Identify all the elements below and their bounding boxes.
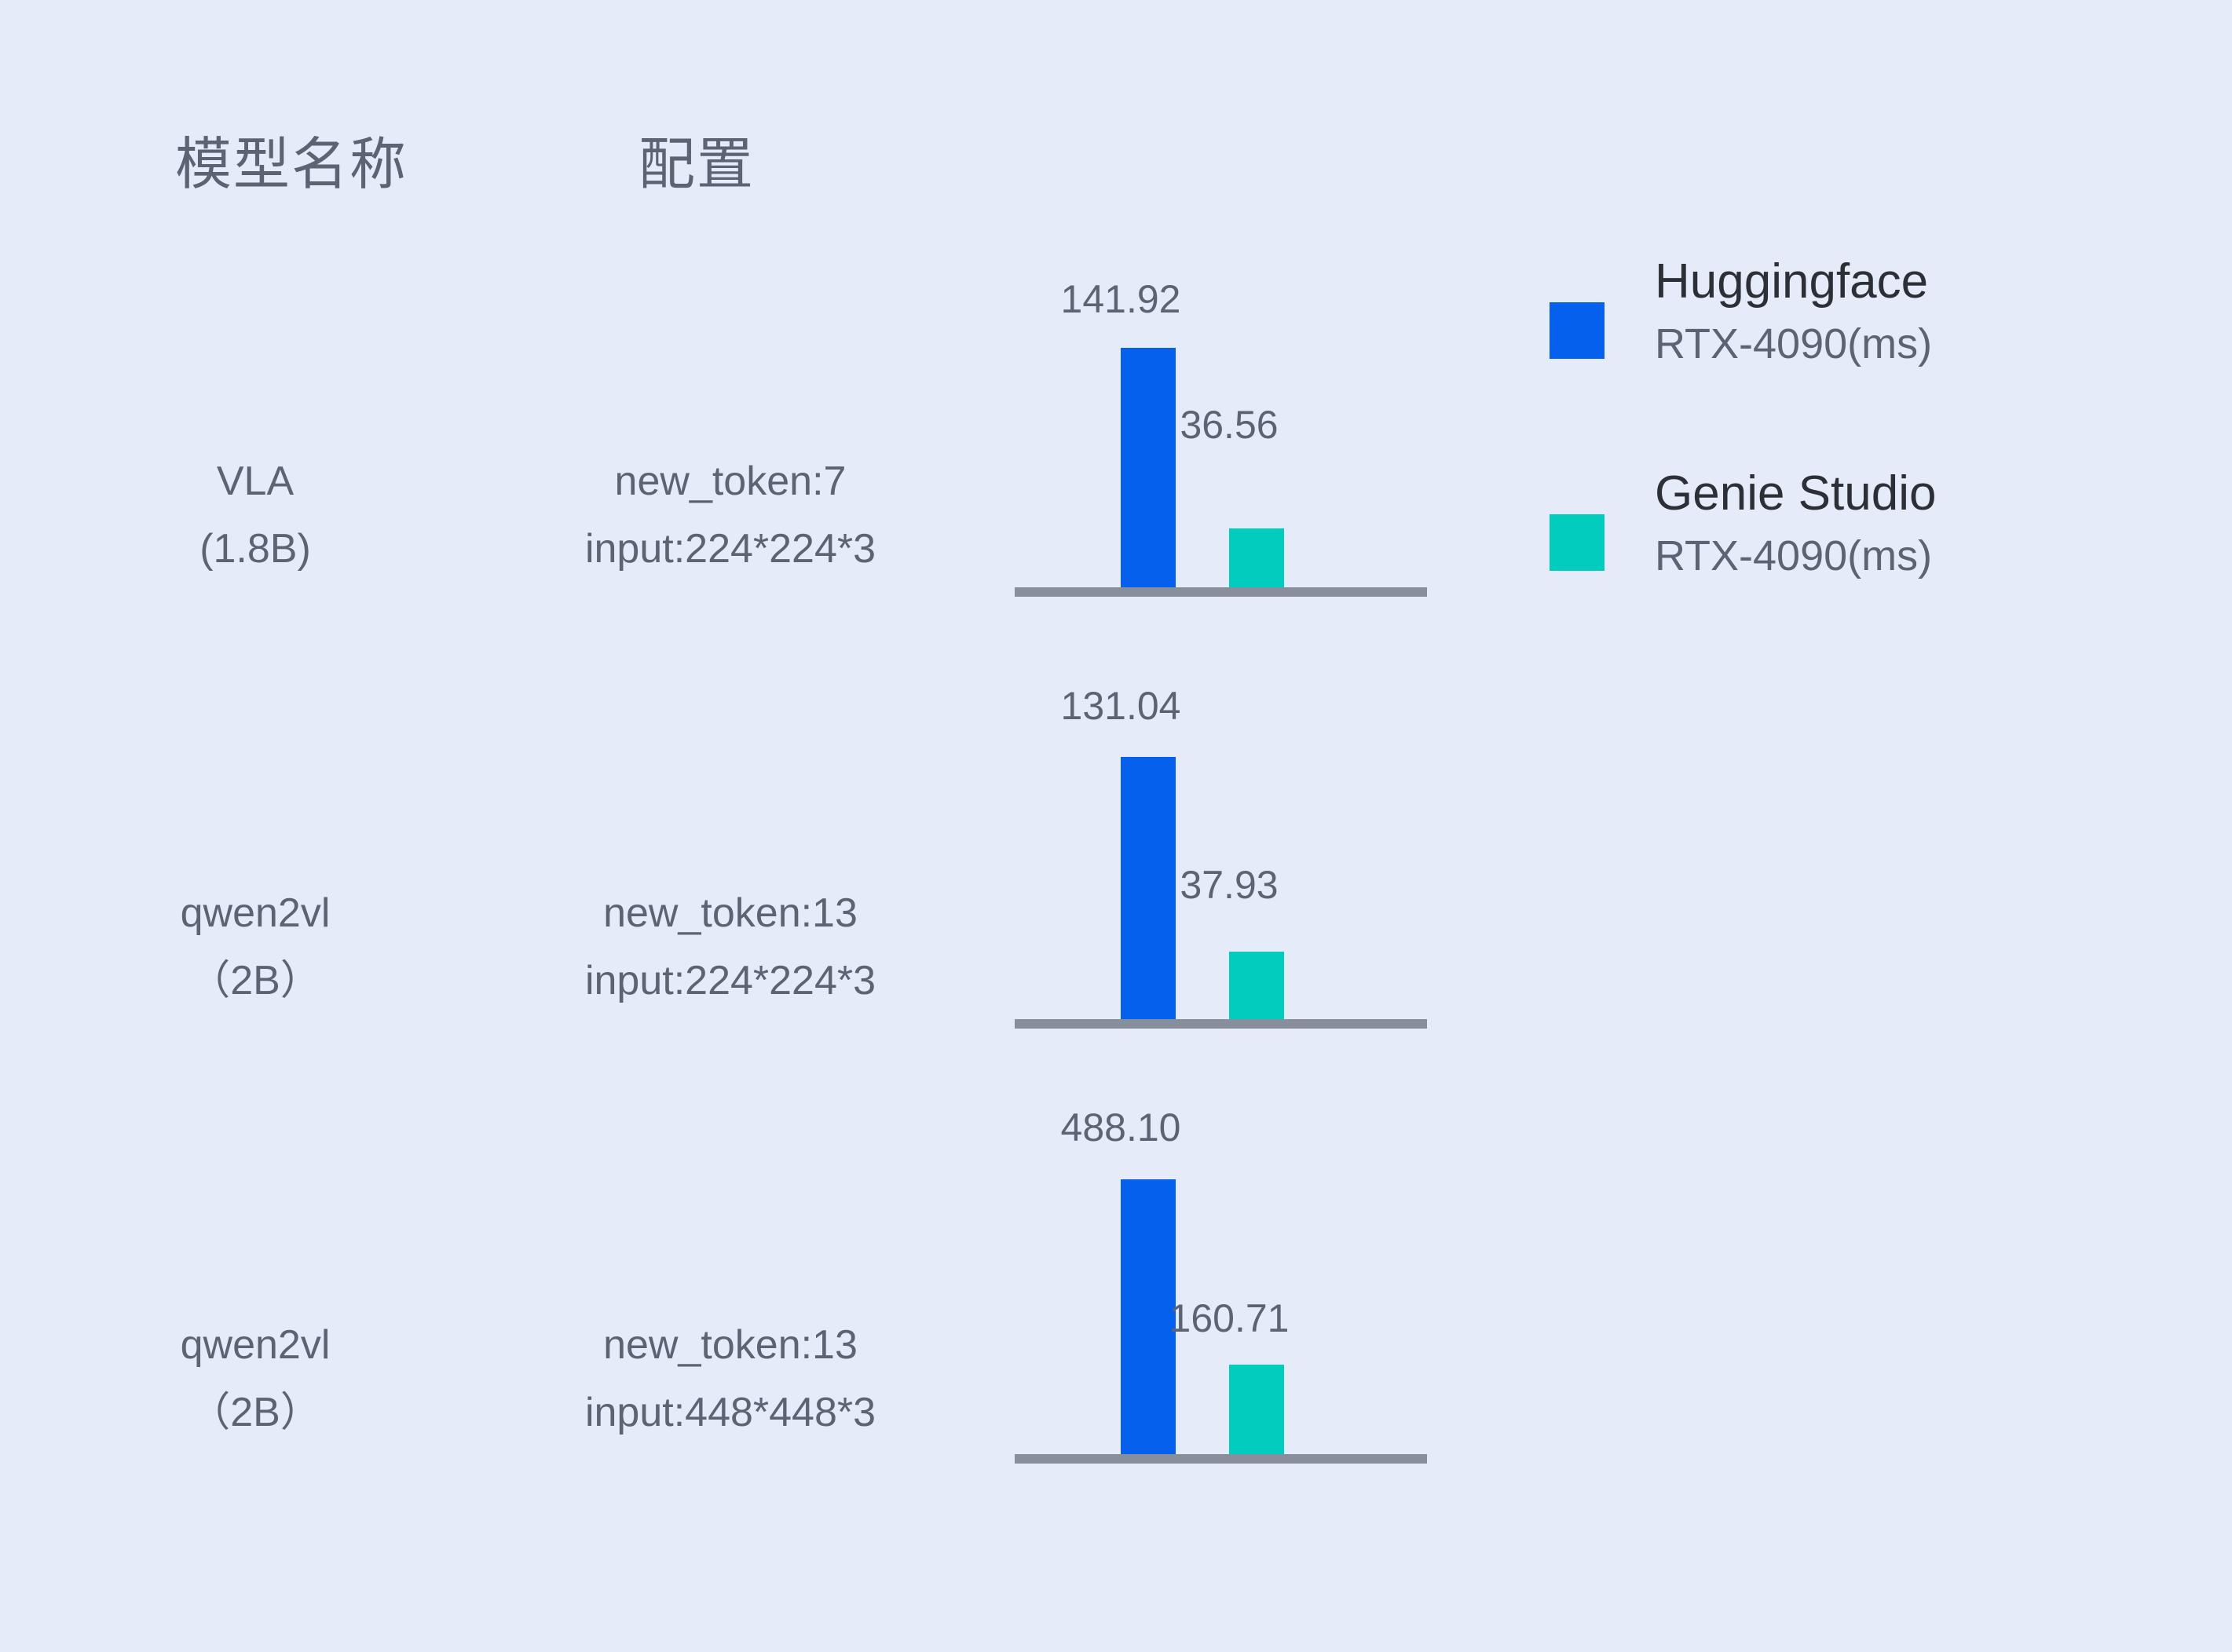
legend-item-genie-studio[interactable]: Genie Studio RTX-4090(ms) xyxy=(1543,463,2172,620)
axis-baseline xyxy=(1015,587,1427,597)
bar-chart-panel: 141.92 36.56 xyxy=(1015,259,1431,605)
axis-baseline xyxy=(1015,1019,1427,1029)
legend-text-block: Genie Studio RTX-4090(ms) xyxy=(1655,463,2157,587)
legend-text-block: Huggingface RTX-4090(ms) xyxy=(1655,251,2157,375)
bar-genie-studio xyxy=(1229,528,1284,587)
bar-genie-studio xyxy=(1229,1365,1284,1454)
legend-title: Huggingface xyxy=(1655,251,2157,312)
model-name-line: qwen2vl xyxy=(102,1311,408,1379)
legend-color-swatch-icon xyxy=(1550,514,1604,571)
cell-config: new_token:13 input:224*224*3 xyxy=(440,879,1021,1014)
model-size-line: （2B） xyxy=(102,947,408,1014)
benchmark-comparison-chart: 模型名称 配置 VLA (1.8B) new_token:7 input:224… xyxy=(0,0,2232,1652)
config-token-line: new_token:13 xyxy=(440,879,1021,947)
legend-item-huggingface[interactable]: Huggingface RTX-4090(ms) xyxy=(1543,251,2172,408)
bar-value-label-genie-studio: 36.56 xyxy=(1127,402,1331,448)
config-input-line: input:224*224*3 xyxy=(440,515,1021,583)
cell-model-name: qwen2vl （2B） xyxy=(102,879,408,1014)
config-token-line: new_token:13 xyxy=(440,1311,1021,1379)
config-input-line: input:448*448*3 xyxy=(440,1379,1021,1446)
cell-model-name: VLA (1.8B) xyxy=(102,448,408,583)
bar-value-label-genie-studio: 37.93 xyxy=(1127,862,1331,908)
legend-subtitle: RTX-4090(ms) xyxy=(1655,312,2157,375)
bar-chart-panel: 488.10 160.71 xyxy=(1015,1115,1431,1468)
bar-huggingface xyxy=(1121,348,1176,587)
config-token-line: new_token:7 xyxy=(440,448,1021,515)
legend-title: Genie Studio xyxy=(1655,463,2157,524)
bar-value-label-huggingface: 488.10 xyxy=(1019,1105,1223,1150)
chart-legend: Huggingface RTX-4090(ms) Genie Studio RT… xyxy=(1543,236,2172,597)
axis-baseline xyxy=(1015,1454,1427,1464)
bar-chart-panel: 131.04 37.93 xyxy=(1015,691,1431,1036)
model-name-line: VLA xyxy=(102,448,408,515)
config-input-line: input:224*224*3 xyxy=(440,947,1021,1014)
column-header-config: 配置 xyxy=(638,118,755,200)
bar-genie-studio xyxy=(1229,952,1284,1019)
legend-subtitle: RTX-4090(ms) xyxy=(1655,524,2157,587)
bar-value-label-genie-studio: 160.71 xyxy=(1127,1296,1331,1341)
model-size-line: （2B） xyxy=(102,1379,408,1446)
table-header-row: 模型名称 配置 xyxy=(0,118,2232,220)
column-header-model-name: 模型名称 xyxy=(175,118,408,200)
cell-model-name: qwen2vl （2B） xyxy=(102,1311,408,1446)
model-size-line: (1.8B) xyxy=(102,515,408,583)
bar-value-label-huggingface: 141.92 xyxy=(1019,276,1223,322)
cell-config: new_token:13 input:448*448*3 xyxy=(440,1311,1021,1446)
cell-config: new_token:7 input:224*224*3 xyxy=(440,448,1021,583)
legend-color-swatch-icon xyxy=(1550,302,1604,359)
model-name-line: qwen2vl xyxy=(102,879,408,947)
bar-value-label-huggingface: 131.04 xyxy=(1019,683,1223,729)
